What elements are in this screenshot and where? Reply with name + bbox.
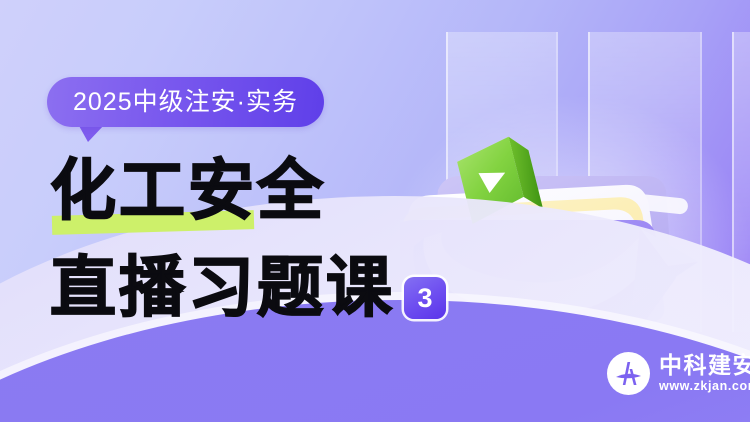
headline-line-2-text: 直播习题课 — [50, 252, 395, 326]
headline-block: 2025中级注安·实务 化工安全 直播习题课 3 — [0, 0, 470, 422]
brand-url-label: www.zkjan.com — [659, 380, 750, 393]
episode-number-badge: 3 — [404, 277, 446, 319]
course-banner: 2025中级注安·实务 化工安全 直播习题课 3 中科建安 www.zkjan.… — [0, 0, 750, 422]
zkjan-monogram-icon — [607, 352, 650, 395]
headline-line-2: 直播习题课 3 — [50, 250, 446, 326]
course-tag-badge: 2025中级注安·实务 — [47, 77, 324, 127]
episode-number-label: 3 — [417, 285, 432, 312]
headline-line-1: 化工安全 — [50, 155, 326, 231]
course-tag-label: 2025中级注安·实务 — [73, 90, 298, 115]
headline-line-1-text: 化工安全 — [50, 155, 326, 229]
brand-text-block: 中科建安 www.zkjan.com — [659, 354, 750, 393]
brand-logo: 中科建安 www.zkjan.com — [607, 352, 750, 395]
brand-name-label: 中科建安 — [659, 354, 750, 377]
